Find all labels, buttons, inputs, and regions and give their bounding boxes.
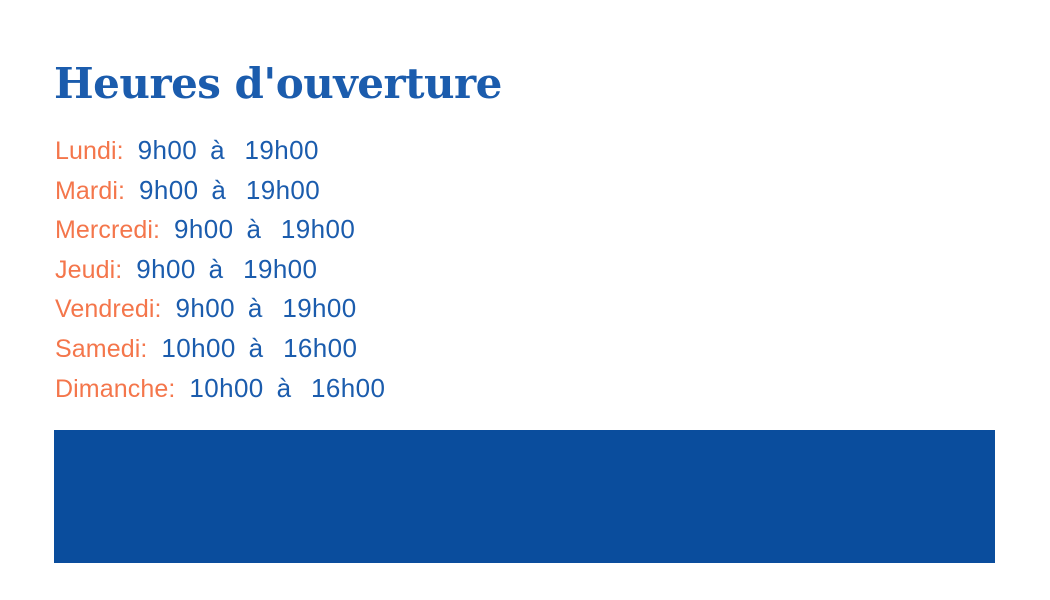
day-label: Jeudi:	[55, 256, 122, 284]
open-time: 9h00	[136, 254, 195, 284]
time-separator: à	[211, 175, 225, 205]
list-item: Dimanche: 10h00 à 16h00	[55, 369, 755, 409]
open-time: 10h00	[161, 333, 235, 363]
open-time: 9h00	[176, 293, 235, 323]
list-item: Vendredi: 9h00 à 19h00	[55, 289, 755, 329]
day-label: Mardi:	[55, 177, 125, 205]
close-time: 19h00	[243, 254, 317, 284]
day-label: Lundi:	[55, 137, 124, 165]
opening-hours-list: Lundi: 9h00 à 19h00 Mardi: 9h00 à 19h00 …	[55, 131, 755, 408]
open-time: 9h00	[138, 135, 197, 165]
time-separator: à	[246, 214, 260, 244]
time-separator: à	[249, 333, 263, 363]
close-time: 19h00	[282, 293, 356, 323]
list-item: Lundi: 9h00 à 19h00	[55, 131, 755, 171]
day-label: Samedi:	[55, 335, 147, 363]
footer-banner-block	[54, 430, 995, 563]
close-time: 16h00	[283, 333, 357, 363]
list-item: Mardi: 9h00 à 19h00	[55, 171, 755, 211]
time-separator: à	[210, 135, 224, 165]
time-separator: à	[277, 373, 291, 403]
page-title: Heures d'ouverture	[54, 58, 502, 110]
time-separator: à	[209, 254, 223, 284]
slide-canvas: Heures d'ouverture Lundi: 9h00 à 19h00 M…	[0, 0, 1050, 600]
list-item: Mercredi: 9h00 à 19h00	[55, 210, 755, 250]
close-time: 19h00	[245, 135, 319, 165]
open-time: 9h00	[139, 175, 198, 205]
open-time: 9h00	[174, 214, 233, 244]
day-label: Vendredi:	[55, 295, 162, 323]
list-item: Jeudi: 9h00 à 19h00	[55, 250, 755, 290]
list-item: Samedi: 10h00 à 16h00	[55, 329, 755, 369]
close-time: 19h00	[246, 175, 320, 205]
day-label: Dimanche:	[55, 375, 175, 403]
time-separator: à	[248, 293, 262, 323]
close-time: 16h00	[311, 373, 385, 403]
close-time: 19h00	[281, 214, 355, 244]
open-time: 10h00	[189, 373, 263, 403]
day-label: Mercredi:	[55, 216, 160, 244]
